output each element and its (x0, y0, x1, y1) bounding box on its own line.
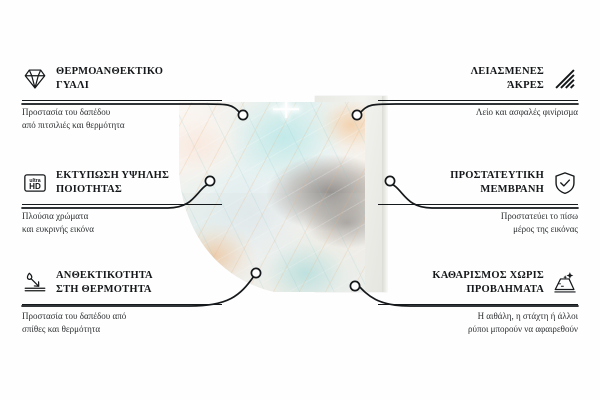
feature-title: ΑΝΘΕΚΤΙΚΟΤΗΤΑ ΣΤΗ ΘΕΡΜΟΤΗΤΑ (56, 269, 153, 297)
feature-title-line: ΆΚΡΕΣ (471, 79, 544, 93)
feature-title: ΛΕΙΑΣΜΕΝΕΣ ΆΚΡΕΣ (471, 65, 544, 93)
feature-desc-line: Πλούσια χρώματα (22, 210, 222, 223)
feature-desc-line: Προστατεύει το πίσω (378, 210, 578, 223)
feature-desc-line: και ευκρινής εικόνα (22, 223, 222, 236)
feature-easy-cleaning: ΚΑΘΑΡΙΣΜΟΣ ΧΩΡΙΣ ΠΡΟΒΛΗΜΑΤΑ Η αιθάλη, η … (378, 266, 578, 336)
feature-polished-edges: ΛΕΙΑΣΜΕΝΕΣ ΆΚΡΕΣ Λείο και ασφαλές φινίρι… (378, 62, 578, 119)
feature-divider (22, 304, 222, 305)
sparkle-clean-icon (552, 270, 578, 296)
feature-title-line: ΛΕΙΑΣΜΕΝΕΣ (471, 65, 544, 79)
diamond-icon (22, 66, 48, 92)
feature-desc-line: Η αιθάλη, η στάχτη ή άλλοι (378, 310, 578, 323)
feature-title: ΕΚΤΥΠΩΣΗ ΥΨΗΛΗΣ ΠΟΙΟΤΗΤΑΣ (56, 169, 169, 197)
feature-desc-line: Λείο και ασφαλές φινίρισμα (378, 106, 578, 119)
feature-desc-line: σπίθες και θερμότητα (22, 323, 222, 336)
feature-desc-line: μέρος της εικόνας (378, 223, 578, 236)
feature-heat-resistant-glass: ΘΕΡΜΟΑΝΘΕΚΤΙΚΟ ΓΥΑΛΙ Προστασία του δαπέδ… (22, 62, 222, 132)
feature-title-line: ΘΕΡΜΟΑΝΘΕΚΤΙΚΟ (56, 65, 163, 79)
feature-header: ΛΕΙΑΣΜΕΝΕΣ ΆΚΡΕΣ (378, 62, 578, 96)
feature-desc-line: Προστασία του δαπέδου από (22, 310, 222, 323)
feature-header: ultra HD ΕΚΤΥΠΩΣΗ ΥΨΗΛΗΣ ΠΟΙΟΤΗΤΑΣ (22, 166, 222, 200)
feature-title: ΘΕΡΜΟΑΝΘΕΚΤΙΚΟ ΓΥΑΛΙ (56, 65, 163, 93)
feature-divider (378, 100, 578, 101)
feature-title-line: ΠΡΟΒΛΗΜΑΤΑ (432, 283, 544, 297)
feature-title-line: ΣΤΗ ΘΕΡΜΟΤΗΤΑ (56, 283, 153, 297)
feature-desc-line: Προστασία του δαπέδου (22, 106, 222, 119)
feature-title-line: ΚΑΘΑΡΙΣΜΟΣ ΧΩΡΙΣ (432, 269, 544, 283)
feature-description: Πλούσια χρώματα και ευκρινής εικόνα (22, 210, 222, 236)
feature-heat-durability: ΑΝΘΕΚΤΙΚΟΤΗΤΑ ΣΤΗ ΘΕΡΜΟΤΗΤΑ Προστασία το… (22, 266, 222, 336)
diagonal-stripes-icon (552, 66, 578, 92)
feature-desc-line: από πιτσιλιές και θερμότητα (22, 119, 222, 132)
feature-divider (22, 204, 222, 205)
feature-title-line: ΠΡΟΣΤΑΤΕΥΤΙΚΗ (450, 169, 544, 183)
feature-title: ΠΡΟΣΤΑΤΕΥΤΙΚΗ ΜΕΜΒΡΑΝΗ (450, 169, 544, 197)
feature-description: Λείο και ασφαλές φινίρισμα (378, 106, 578, 119)
feature-header: ΘΕΡΜΟΑΝΘΕΚΤΙΚΟ ΓΥΑΛΙ (22, 62, 222, 96)
feature-header: ΑΝΘΕΚΤΙΚΟΤΗΤΑ ΣΤΗ ΘΕΡΜΟΤΗΤΑ (22, 266, 222, 300)
feature-title-line: ΜΕΜΒΡΑΝΗ (450, 183, 544, 197)
feature-divider (378, 204, 578, 205)
feature-divider (22, 100, 222, 101)
infographic-canvas: ΘΕΡΜΟΑΝΘΕΚΤΙΚΟ ΓΥΑΛΙ Προστασία του δαπέδ… (0, 0, 600, 400)
feature-title-line: ΕΚΤΥΠΩΣΗ ΥΨΗΛΗΣ (56, 169, 169, 183)
feature-title-line: ΓΥΑΛΙ (56, 79, 163, 93)
ultra-hd-icon: ultra HD (22, 170, 48, 196)
flame-resistance-icon (22, 270, 48, 296)
feature-high-quality-print: ultra HD ΕΚΤΥΠΩΣΗ ΥΨΗΛΗΣ ΠΟΙΟΤΗΤΑΣ Πλούσ… (22, 166, 222, 236)
ultra-hd-icon-bottom-text: HD (29, 182, 41, 191)
feature-divider (378, 304, 578, 305)
feature-description: Προστατεύει το πίσω μέρος της εικόνας (378, 210, 578, 236)
feature-title-line: ΑΝΘΕΚΤΙΚΟΤΗΤΑ (56, 269, 153, 283)
feature-header: ΠΡΟΣΤΑΤΕΥΤΙΚΗ ΜΕΜΒΡΑΝΗ (378, 166, 578, 200)
feature-title: ΚΑΘΑΡΙΣΜΟΣ ΧΩΡΙΣ ΠΡΟΒΛΗΜΑΤΑ (432, 269, 544, 297)
shield-check-icon (552, 170, 578, 196)
feature-description: Η αιθάλη, η στάχτη ή άλλοι ρύποι μπορούν… (378, 310, 578, 336)
feature-protective-membrane: ΠΡΟΣΤΑΤΕΥΤΙΚΗ ΜΕΜΒΡΑΝΗ Προστατεύει το πί… (378, 166, 578, 236)
feature-description: Προστασία του δαπέδου από πιτσιλιές και … (22, 106, 222, 132)
feature-title-line: ΠΟΙΟΤΗΤΑΣ (56, 183, 169, 197)
feature-description: Προστασία του δαπέδου από σπίθες και θερ… (22, 310, 222, 336)
feature-header: ΚΑΘΑΡΙΣΜΟΣ ΧΩΡΙΣ ΠΡΟΒΛΗΜΑΤΑ (378, 266, 578, 300)
feature-desc-line: ρύποι μπορούν να αφαιρεθούν (378, 323, 578, 336)
